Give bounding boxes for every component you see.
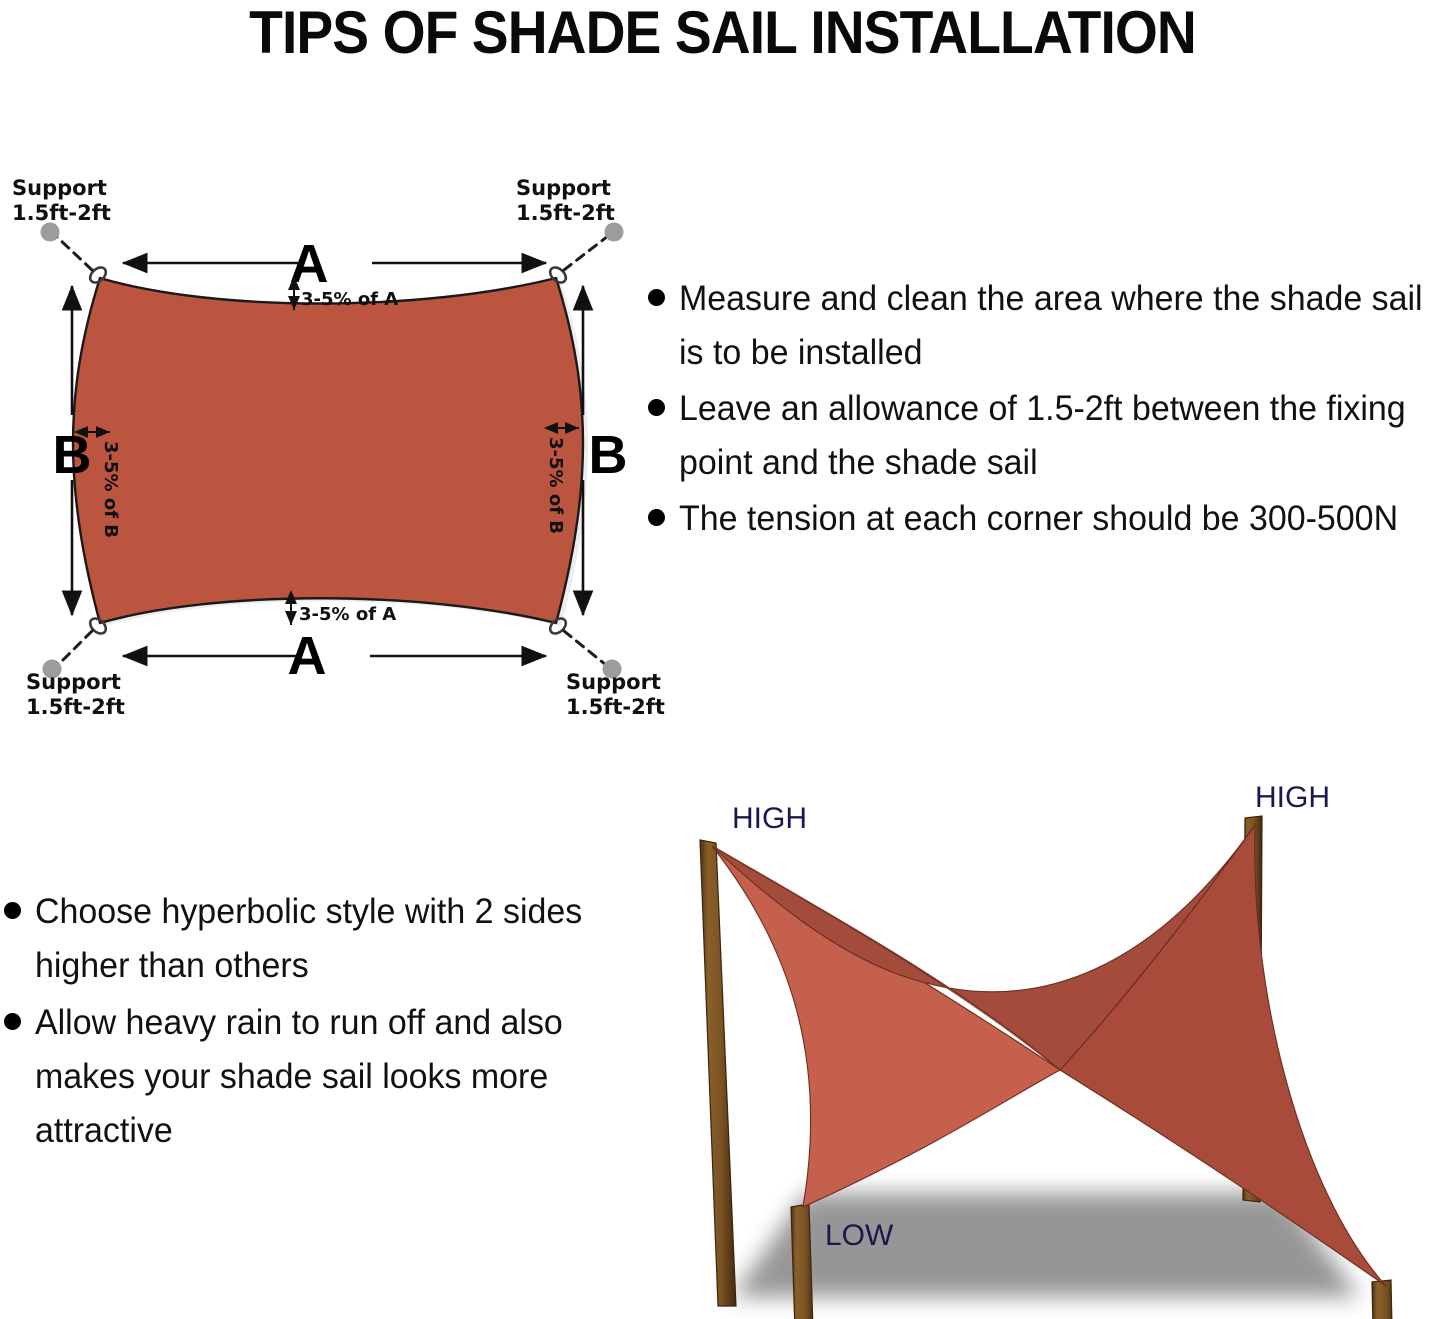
label-low-left: LOW bbox=[825, 1219, 894, 1252]
tip-text: Choose hyperbolic style with 2 sides hig… bbox=[35, 885, 606, 994]
tip-text: Leave an allowance of 1.5-2ft between th… bbox=[679, 382, 1425, 490]
list-item: Leave an allowance of 1.5-2ft between th… bbox=[648, 382, 1445, 490]
dimension-a-bottom-label: A bbox=[288, 626, 327, 686]
tips-list-left: Choose hyperbolic style with 2 sides hig… bbox=[4, 885, 624, 1160]
support-label-line2: 1.5ft-2ft bbox=[566, 695, 665, 719]
rect-sail-diagram: Support 1.5ft-2ft Support 1.5ft-2ft Supp… bbox=[0, 160, 680, 730]
sag-label-left: 3-5% of B bbox=[100, 441, 121, 538]
support-label-line1: Support bbox=[516, 176, 611, 200]
support-label-bottom-right: Support 1.5ft-2ft bbox=[566, 670, 665, 719]
tip-text: Measure and clean the area where the sha… bbox=[679, 272, 1425, 380]
support-label-top-right: Support 1.5ft-2ft bbox=[516, 176, 615, 225]
dimension-b-right-label: B bbox=[589, 425, 628, 485]
shade-sail-body bbox=[73, 278, 583, 623]
bullet-dot-icon bbox=[648, 289, 665, 306]
tips-list-right: Measure and clean the area where the sha… bbox=[648, 272, 1445, 547]
label-high-right: HIGH bbox=[1255, 781, 1330, 814]
list-item: Measure and clean the area where the sha… bbox=[648, 272, 1445, 380]
post-high-left bbox=[700, 840, 736, 1306]
hyperbolic-sail-diagram: HIGH HIGH LOW LOW bbox=[660, 770, 1445, 1319]
list-item: Allow heavy rain to run off and also mak… bbox=[4, 996, 624, 1159]
support-dot-top-left bbox=[41, 223, 60, 242]
sag-label-bottom: 3-5% of A bbox=[299, 604, 396, 625]
tip-text: Allow heavy rain to run off and also mak… bbox=[35, 996, 606, 1159]
infographic-page: TIPS OF SHADE SAIL INSTALLATION bbox=[0, 0, 1445, 1319]
support-dot-top-right bbox=[605, 223, 624, 242]
support-label-top-left: Support 1.5ft-2ft bbox=[12, 176, 111, 225]
bullet-dot-icon bbox=[648, 399, 665, 416]
tip-text: The tension at each corner should be 300… bbox=[679, 492, 1425, 546]
support-label-line1: Support bbox=[566, 670, 661, 694]
list-item: The tension at each corner should be 300… bbox=[648, 492, 1445, 546]
support-label-bottom-left: Support 1.5ft-2ft bbox=[26, 670, 125, 719]
bullet-dot-icon bbox=[4, 1013, 21, 1030]
post-low-right bbox=[1372, 1280, 1395, 1319]
support-label-line1: Support bbox=[26, 670, 121, 694]
dimension-a-top-label: A bbox=[290, 234, 329, 294]
support-label-line2: 1.5ft-2ft bbox=[26, 695, 125, 719]
sag-label-top: 3-5% of A bbox=[301, 289, 398, 310]
support-label-line1: Support bbox=[12, 176, 107, 200]
support-label-line2: 1.5ft-2ft bbox=[516, 201, 615, 225]
bullet-dot-icon bbox=[648, 509, 665, 526]
dimension-b-left-label: B bbox=[53, 425, 92, 485]
sag-label-right: 3-5% of B bbox=[545, 437, 566, 534]
list-item: Choose hyperbolic style with 2 sides hig… bbox=[4, 885, 624, 994]
bullet-dot-icon bbox=[4, 902, 21, 919]
page-title: TIPS OF SHADE SAIL INSTALLATION bbox=[58, 0, 1387, 67]
label-high-left: HIGH bbox=[732, 802, 807, 835]
support-label-line2: 1.5ft-2ft bbox=[12, 201, 111, 225]
